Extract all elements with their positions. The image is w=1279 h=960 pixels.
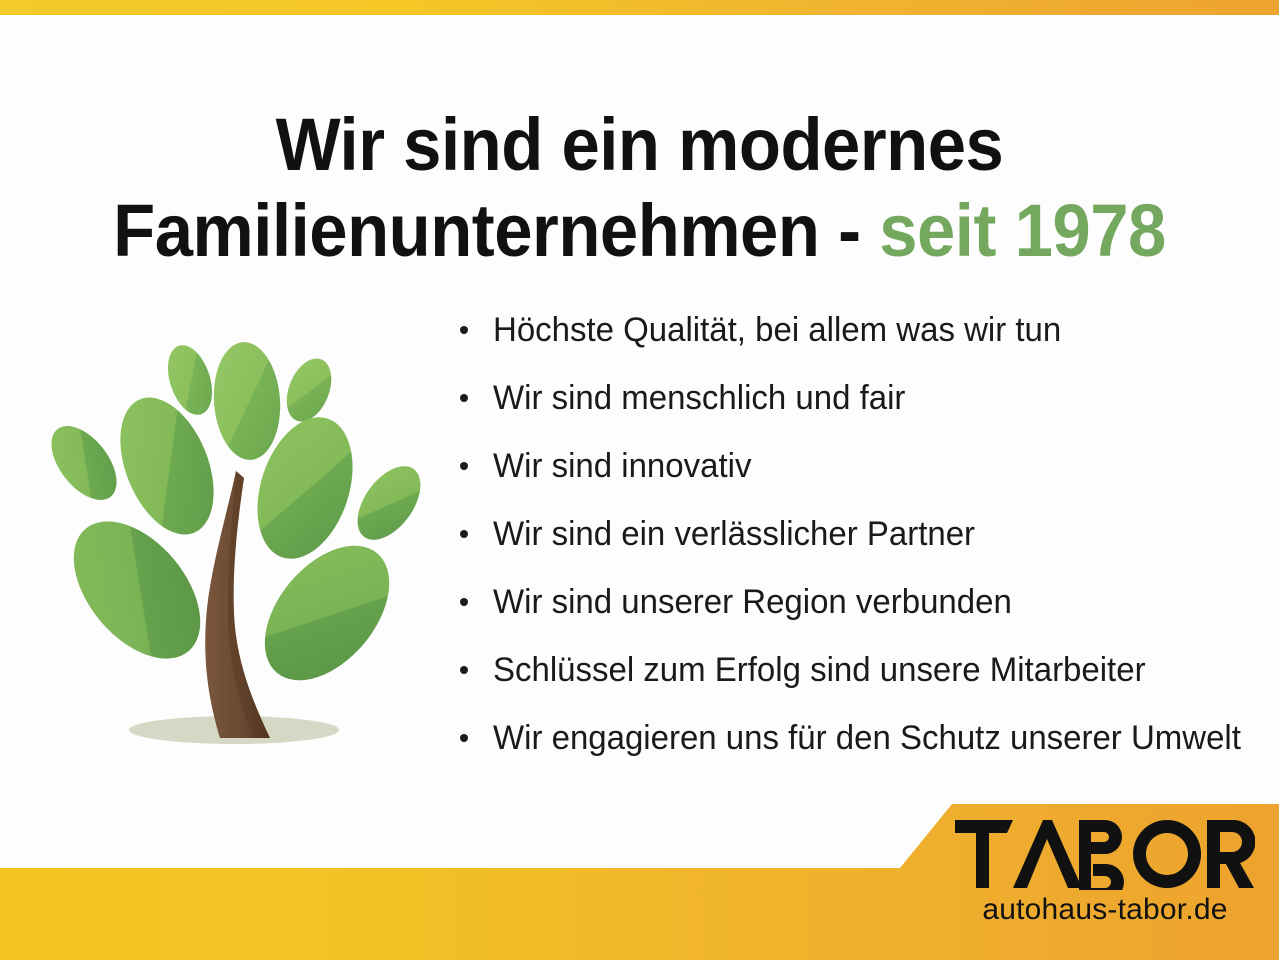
tabor-wordmark-icon xyxy=(955,818,1255,890)
list-item: Wir engagieren uns für den Schutz unsere… xyxy=(455,713,1265,781)
list-item: Wir sind ein verlässlicher Partner xyxy=(455,509,1265,577)
bullet-dot-icon xyxy=(460,326,468,334)
list-item: Wir sind innovativ xyxy=(455,441,1265,509)
list-item: Wir sind unserer Region verbunden xyxy=(455,577,1265,645)
tree-leaf xyxy=(240,522,414,703)
value-list: Höchste Qualität, bei allem was wir tun … xyxy=(455,305,1265,781)
tree-leaf xyxy=(278,352,340,428)
headline-line-1: Wir sind ein modernes xyxy=(45,102,1234,188)
list-item: Höchste Qualität, bei allem was wir tun xyxy=(455,305,1265,373)
slide-root: Wir sind ein modernes Familienunternehme… xyxy=(0,0,1279,960)
tree-illustration xyxy=(22,328,442,768)
bullet-dot-icon xyxy=(460,530,468,538)
brand-url[interactable]: autohaus-tabor.de xyxy=(955,892,1255,928)
list-item: Wir sind menschlich und fair xyxy=(455,373,1265,441)
list-item-label: Wir sind ein verlässlicher Partner xyxy=(493,509,975,559)
list-item-label: Wir sind unserer Region verbunden xyxy=(493,577,1012,627)
list-item-label: Wir sind menschlich und fair xyxy=(493,373,905,423)
tree-leaf xyxy=(345,455,433,551)
headline-line-2: Familienunternehmen - seit 1978 xyxy=(45,188,1234,274)
brand-logo[interactable]: autohaus-tabor.de xyxy=(955,818,1255,928)
list-item-label: Wir engagieren uns für den Schutz unsere… xyxy=(493,713,1241,763)
bullet-dot-icon xyxy=(460,394,468,402)
bullet-dot-icon xyxy=(460,598,468,606)
list-item: Schlüssel zum Erfolg sind unsere Mitarbe… xyxy=(455,645,1265,713)
headline-line-2-plain: Familienunternehmen - xyxy=(113,189,879,272)
headline-accent-year: seit 1978 xyxy=(879,189,1166,272)
page-title: Wir sind ein modernes Familienunternehme… xyxy=(45,102,1234,274)
list-item-label: Höchste Qualität, bei allem was wir tun xyxy=(493,305,1061,355)
bullet-dot-icon xyxy=(460,462,468,470)
tree-leaf xyxy=(39,414,130,511)
bullet-dot-icon xyxy=(460,666,468,674)
top-accent-bar xyxy=(0,0,1279,15)
bullet-dot-icon xyxy=(460,734,468,742)
list-item-label: Wir sind innovativ xyxy=(493,441,751,491)
tree-leaf xyxy=(210,340,284,462)
list-item-label: Schlüssel zum Erfolg sind unsere Mitarbe… xyxy=(493,645,1146,695)
